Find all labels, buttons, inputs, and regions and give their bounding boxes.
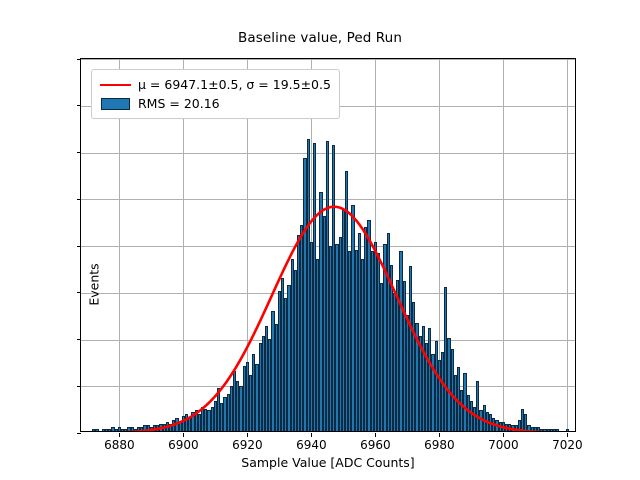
y-tick-mark: [77, 199, 81, 200]
x-tick-label: 6880: [84, 438, 154, 452]
legend-item-rms: RMS = 20.16: [98, 94, 331, 113]
x-tick-mark: [247, 433, 248, 437]
y-axis-label: Events: [87, 220, 102, 350]
y-tick-mark: [77, 433, 81, 434]
y-tick-mark: [77, 386, 81, 387]
x-tick-mark: [567, 433, 568, 437]
legend-patch-swatch: [101, 98, 130, 110]
x-tick-mark: [503, 433, 504, 437]
plot-axes: 0255075100125150175200 68806900692069406…: [80, 58, 576, 432]
legend-label-fit: μ = 6947.1±0.5, σ = 19.5±0.5: [138, 77, 331, 92]
y-tick-mark: [77, 339, 81, 340]
figure: Baseline value, Ped Run 0255075100125150…: [0, 0, 640, 480]
legend-label-rms: RMS = 20.16: [138, 96, 220, 111]
y-tick-mark: [77, 152, 81, 153]
legend-line-swatch: [100, 84, 131, 86]
x-axis-label: Sample Value [ADC Counts]: [80, 455, 576, 470]
x-tick-mark: [311, 433, 312, 437]
legend-item-fit: μ = 6947.1±0.5, σ = 19.5±0.5: [98, 75, 331, 94]
x-tick-mark: [183, 433, 184, 437]
x-tick-mark: [439, 433, 440, 437]
x-tick-label: 6980: [404, 438, 474, 452]
y-tick-mark: [77, 105, 81, 106]
x-tick-mark: [375, 433, 376, 437]
y-tick-mark: [77, 59, 81, 60]
y-tick-mark: [77, 246, 81, 247]
x-tick-label: 6900: [148, 438, 218, 452]
y-tick-mark: [77, 292, 81, 293]
x-tick-label: 6960: [340, 438, 410, 452]
x-tick-label: 6920: [212, 438, 282, 452]
chart-title: Baseline value, Ped Run: [0, 30, 640, 46]
x-tick-label: 7020: [532, 438, 602, 452]
x-tick-mark: [119, 433, 120, 437]
x-tick-label: 6940: [276, 438, 346, 452]
x-tick-label: 7000: [468, 438, 538, 452]
legend: μ = 6947.1±0.5, σ = 19.5±0.5 RMS = 20.16: [91, 69, 340, 119]
